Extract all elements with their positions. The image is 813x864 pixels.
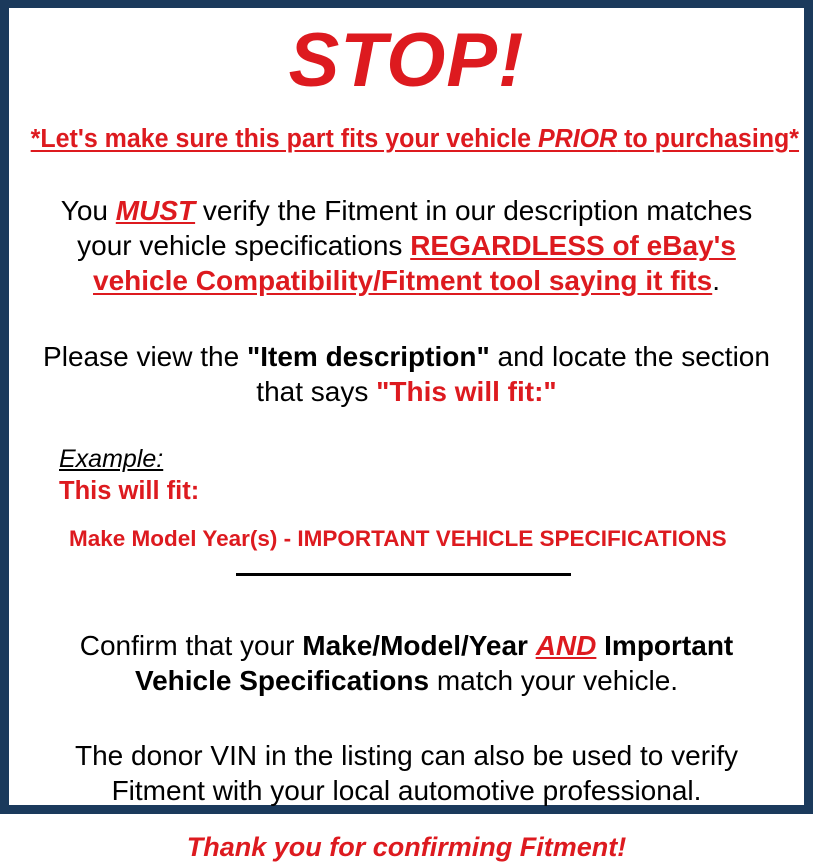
must-tail-text: . <box>712 265 720 296</box>
must-emphasis: MUST <box>116 195 195 226</box>
subtitle-line: *Let's make sure this part fits your veh… <box>31 104 783 154</box>
subtitle-prior-emphasis: PRIOR <box>538 125 617 153</box>
stop-heading: STOP! <box>23 8 790 104</box>
section-divider <box>236 573 571 576</box>
fitment-notice-card: STOP! *Let's make sure this part fits yo… <box>0 0 813 814</box>
donor-vin-paragraph: The donor VIN in the listing can also be… <box>23 698 790 808</box>
must-lead-text: You <box>61 195 116 226</box>
notice-content: STOP! *Let's make sure this part fits yo… <box>9 8 804 805</box>
confirm-lead-text: Confirm that your <box>80 630 303 661</box>
item-description-label: "Item description" <box>247 341 490 372</box>
divider-wrapper <box>23 553 790 595</box>
example-label-row: Example: <box>59 444 790 474</box>
example-block: Example: This will fit: Make Model Year(… <box>23 409 790 553</box>
subtitle-part1: *Let's make sure this part fits your veh… <box>31 125 538 153</box>
thank-you-line: Thank you for confirming Fitment! <box>23 808 790 864</box>
item-description-paragraph: Please view the "Item description" and l… <box>23 298 790 409</box>
example-spec-line: Make Model Year(s) - IMPORTANT VEHICLE S… <box>59 506 790 553</box>
confirm-paragraph: Confirm that your Make/Model/Year AND Im… <box>23 595 790 698</box>
example-fit-line: This will fit: <box>59 474 790 506</box>
confirm-space-1 <box>528 630 536 661</box>
must-verify-paragraph: You MUST verify the Fitment in our descr… <box>23 154 790 298</box>
make-model-year-bold: Make/Model/Year <box>302 630 528 661</box>
example-label: Example: <box>59 444 163 474</box>
itemdesc-lead-text: Please view the <box>43 341 247 372</box>
and-emphasis: AND <box>536 630 597 661</box>
confirm-space-2 <box>596 630 604 661</box>
confirm-tail-text: match your vehicle. <box>429 665 678 696</box>
subtitle-part2: to purchasing* <box>617 125 799 153</box>
this-will-fit-quote: "This will fit:" <box>376 376 557 407</box>
